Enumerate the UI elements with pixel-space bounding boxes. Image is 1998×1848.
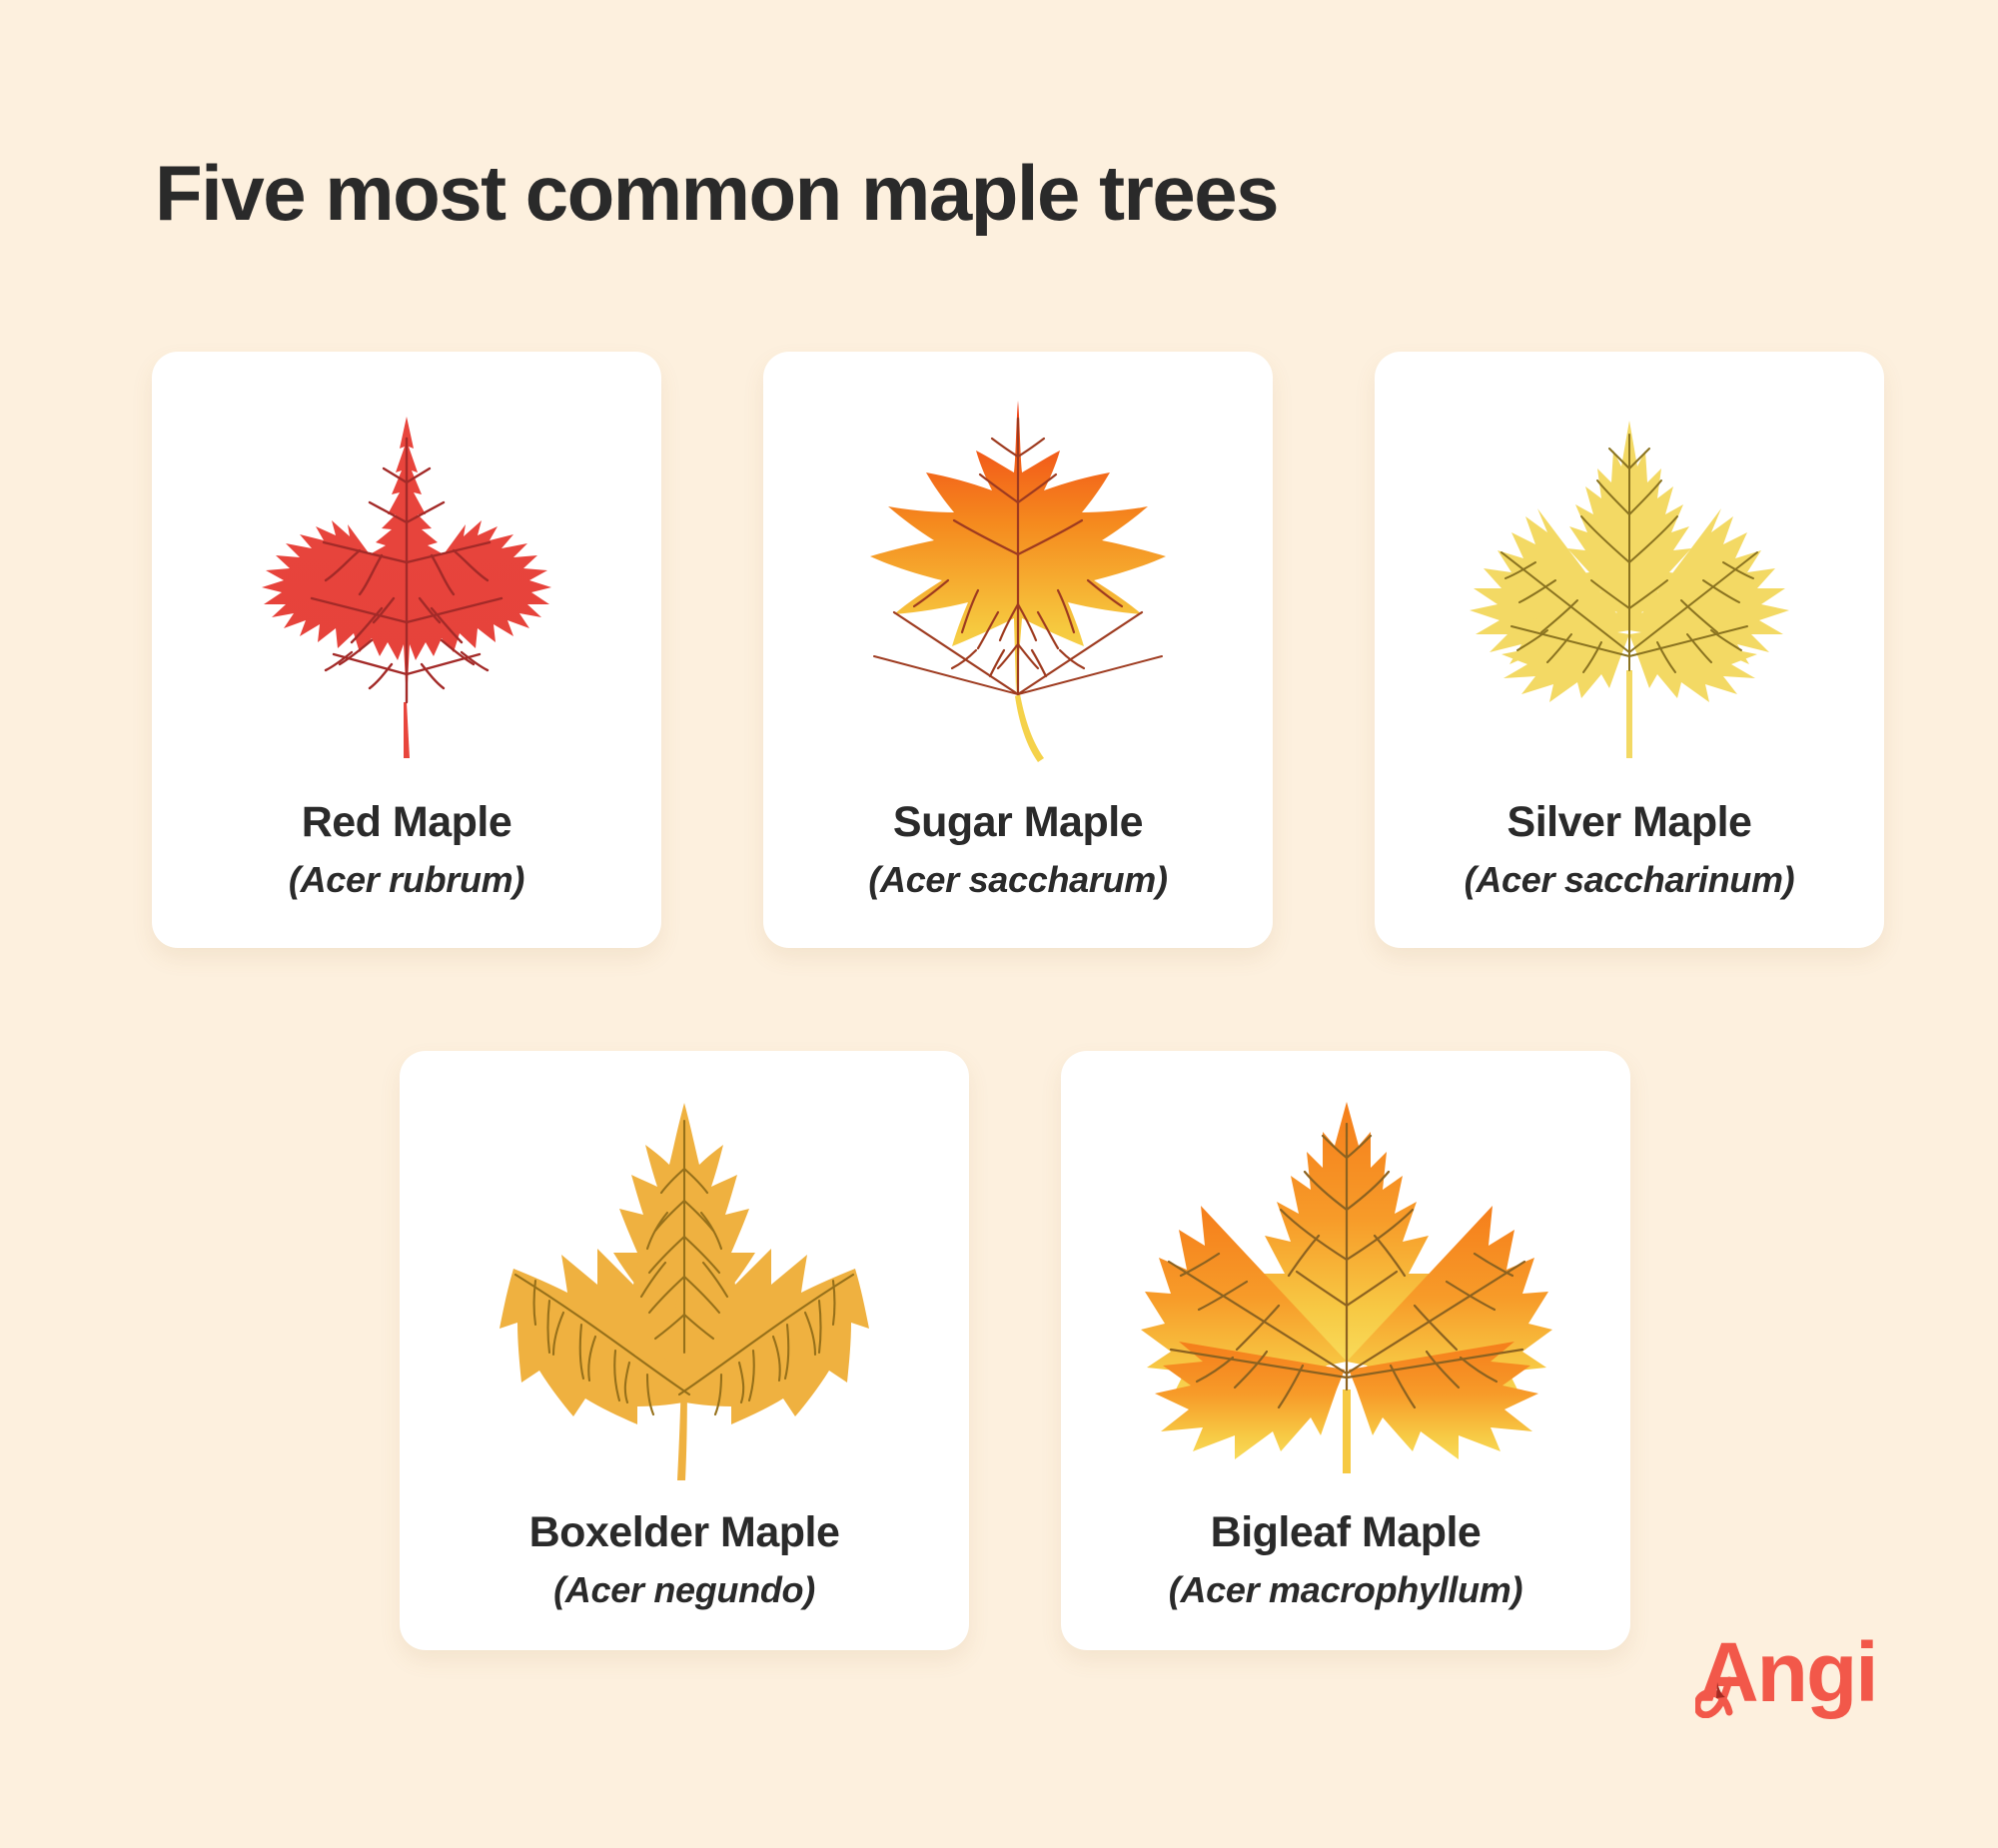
card-red-maple: Red Maple (Acer rubrum): [152, 352, 661, 948]
card-title: Boxelder Maple: [529, 1509, 840, 1556]
sugar-maple-leaf-icon: [848, 395, 1188, 766]
card-bigleaf-maple: Bigleaf Maple (Acer macrophyllum): [1061, 1051, 1630, 1650]
infographic-root: Five most common maple trees: [0, 0, 1998, 1848]
card-scientific-name: (Acer macrophyllum): [1169, 1570, 1522, 1610]
page-title: Five most common maple trees: [155, 148, 1278, 239]
card-scientific-name: (Acer rubrum): [289, 860, 524, 900]
boxelder-maple-leaf-illustration: [400, 1051, 969, 1509]
card-title: Red Maple: [302, 799, 512, 846]
bigleaf-maple-leaf-icon: [1131, 1090, 1560, 1479]
red-maple-leaf-illustration: [152, 352, 661, 799]
angi-logo-swash-icon: [1695, 1676, 1737, 1718]
card-title: Silver Maple: [1507, 799, 1752, 846]
silver-maple-leaf-illustration: [1375, 352, 1884, 799]
boxelder-maple-leaf-icon: [490, 1085, 879, 1484]
card-title: Sugar Maple: [893, 799, 1143, 846]
angi-logo[interactable]: A ngi: [1698, 1630, 1877, 1714]
card-sugar-maple: Sugar Maple (Acer saccharum): [763, 352, 1273, 948]
silver-maple-leaf-icon: [1460, 403, 1799, 762]
red-maple-leaf-icon: [242, 403, 571, 762]
card-scientific-name: (Acer saccharinum): [1465, 860, 1795, 900]
angi-logo-rest: ngi: [1757, 1630, 1877, 1714]
card-silver-maple: Silver Maple (Acer saccharinum): [1375, 352, 1884, 948]
card-title: Bigleaf Maple: [1211, 1509, 1482, 1556]
sugar-maple-leaf-illustration: [763, 352, 1273, 799]
card-boxelder-maple: Boxelder Maple (Acer negundo): [400, 1051, 969, 1650]
angi-logo-letter-a: A: [1698, 1630, 1757, 1714]
card-scientific-name: (Acer negundo): [553, 1570, 815, 1610]
card-scientific-name: (Acer saccharum): [868, 860, 1167, 900]
bigleaf-maple-leaf-illustration: [1061, 1051, 1630, 1509]
